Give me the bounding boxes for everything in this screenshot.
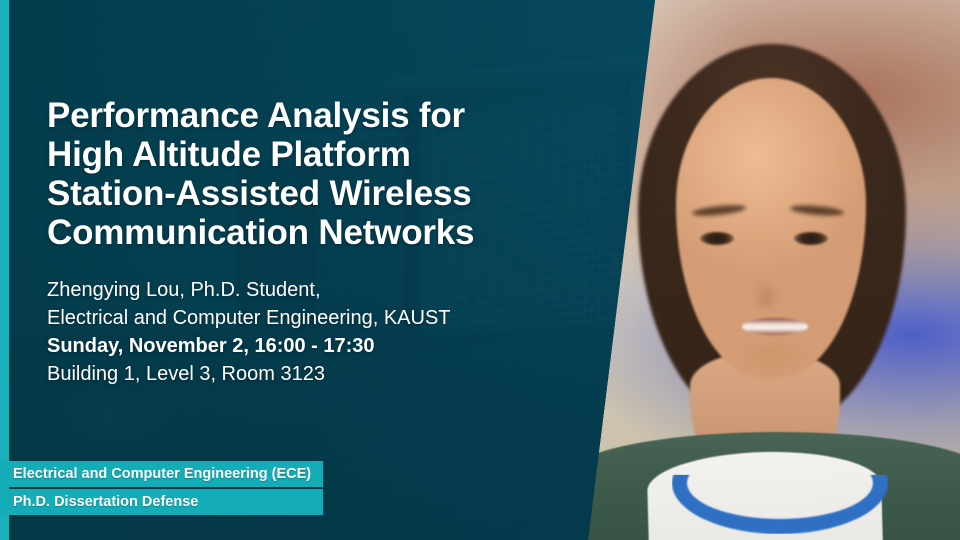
event-location: Building 1, Level 3, Room 3123 <box>47 360 567 388</box>
event-datetime: Sunday, November 2, 16:00 - 17:30 <box>47 332 567 360</box>
title-line-4: Communication Networks <box>47 213 474 252</box>
speaker-affiliation: Electrical and Computer Engineering, KAU… <box>47 304 567 332</box>
speaker-name: Zhengying Lou, Ph.D. Student, <box>47 276 567 304</box>
event-details: Zhengying Lou, Ph.D. Student, Electrical… <box>47 252 567 388</box>
poster-text-block: Performance Analysis forHigh Altitude Pl… <box>47 96 567 388</box>
portrait-eye-right <box>794 232 828 245</box>
portrait-chin <box>726 344 820 384</box>
portrait-nose <box>748 262 784 308</box>
title-line-1: Performance Analysis for <box>47 96 465 135</box>
department-badge: Electrical and Computer Engineering (ECE… <box>0 461 323 487</box>
department-badge-label: Electrical and Computer Engineering (ECE… <box>13 466 311 482</box>
page-title: Performance Analysis forHigh Altitude Pl… <box>47 96 567 252</box>
title-line-3: Station-Assisted Wireless <box>47 174 472 213</box>
portrait-mouth <box>742 318 808 335</box>
title-line-2: High Altitude Platform <box>47 135 411 174</box>
event-poster: Performance Analysis forHigh Altitude Pl… <box>0 0 960 540</box>
event-type-badge-label: Ph.D. Dissertation Defense <box>13 494 198 510</box>
accent-stripe <box>0 0 9 540</box>
event-type-badge: Ph.D. Dissertation Defense <box>0 489 323 515</box>
portrait-eye-left <box>700 232 734 245</box>
